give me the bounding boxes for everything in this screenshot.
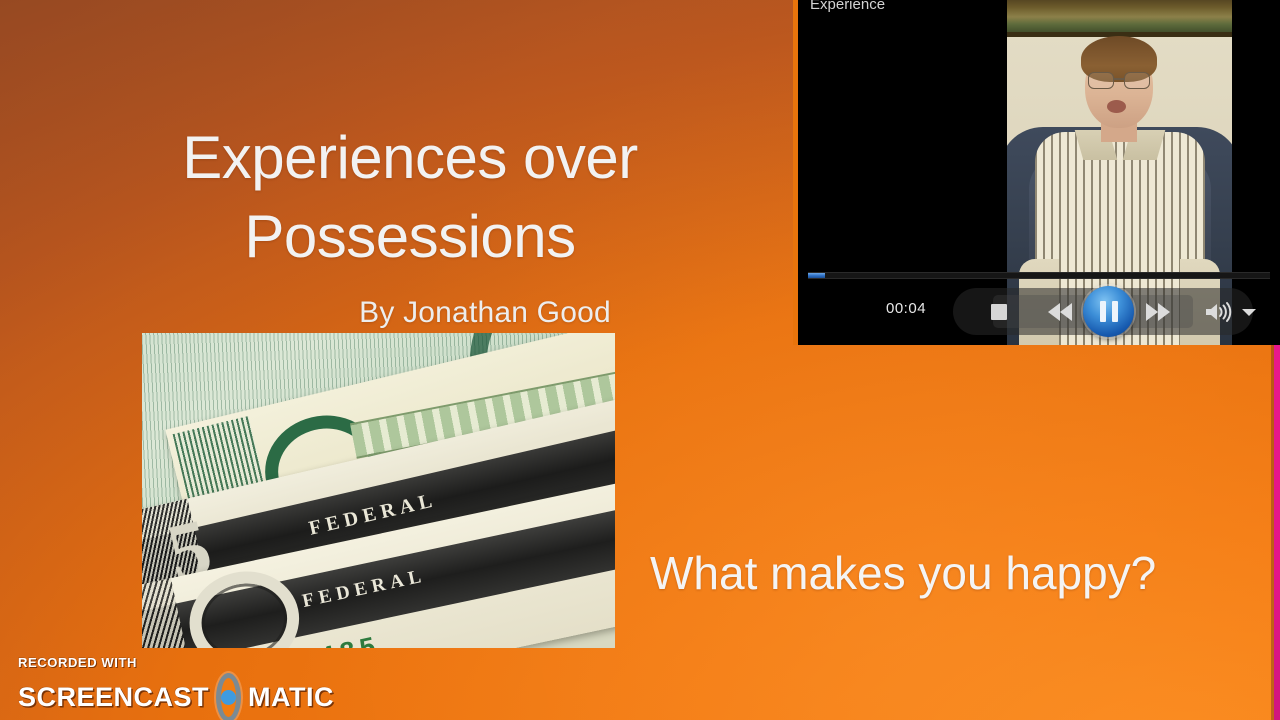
watermark-brand-right: MATIC — [248, 682, 334, 713]
screencast-o-matic-logo-icon — [216, 673, 241, 720]
fast-forward-icon[interactable] — [1141, 302, 1175, 322]
slide-screen: Experiences over Possessions By Jonathan… — [0, 0, 1280, 720]
person-mouth — [1107, 100, 1126, 113]
edge-strip — [1274, 344, 1280, 720]
watermark-recorded-label: RECORDED WITH — [18, 655, 318, 670]
question-text: What makes you happy? — [650, 546, 1156, 600]
video-title-label: Experience — [810, 0, 885, 13]
slide-subtitle: By Jonathan Good — [60, 296, 760, 330]
chevron-down-icon[interactable] — [1241, 307, 1257, 317]
screencast-o-matic-watermark: RECORDED WITH SCREENCAST MATIC — [18, 655, 318, 720]
pause-icon[interactable] — [1083, 286, 1134, 337]
player-control-bar — [953, 288, 1253, 335]
logo-center-dot — [221, 690, 236, 705]
framed-picture — [1007, 0, 1232, 37]
page-title: Experiences over Possessions — [60, 118, 760, 276]
seek-bar[interactable] — [808, 272, 1270, 279]
elapsed-time: 00:04 — [886, 300, 926, 317]
banknote-denomination-oval-lower — [180, 561, 308, 648]
seek-progress — [808, 273, 825, 278]
watermark-brand-left: SCREENCAST — [18, 682, 209, 713]
video-player-panel[interactable]: Experience 00:04 — [793, 0, 1280, 345]
rewind-icon[interactable] — [1043, 302, 1077, 322]
watermark-brand-row: SCREENCAST MATIC — [18, 673, 318, 720]
volume-icon[interactable] — [1203, 301, 1233, 323]
glasses-lens-right — [1124, 72, 1150, 89]
glasses-lens-left — [1088, 72, 1114, 89]
money-photo: 5 FEDERAL FEDERAL JE 7959485 — [142, 333, 615, 648]
stop-icon[interactable] — [991, 304, 1007, 320]
title-block: Experiences over Possessions By Jonathan… — [60, 118, 760, 330]
glasses-icon — [1087, 72, 1151, 87]
